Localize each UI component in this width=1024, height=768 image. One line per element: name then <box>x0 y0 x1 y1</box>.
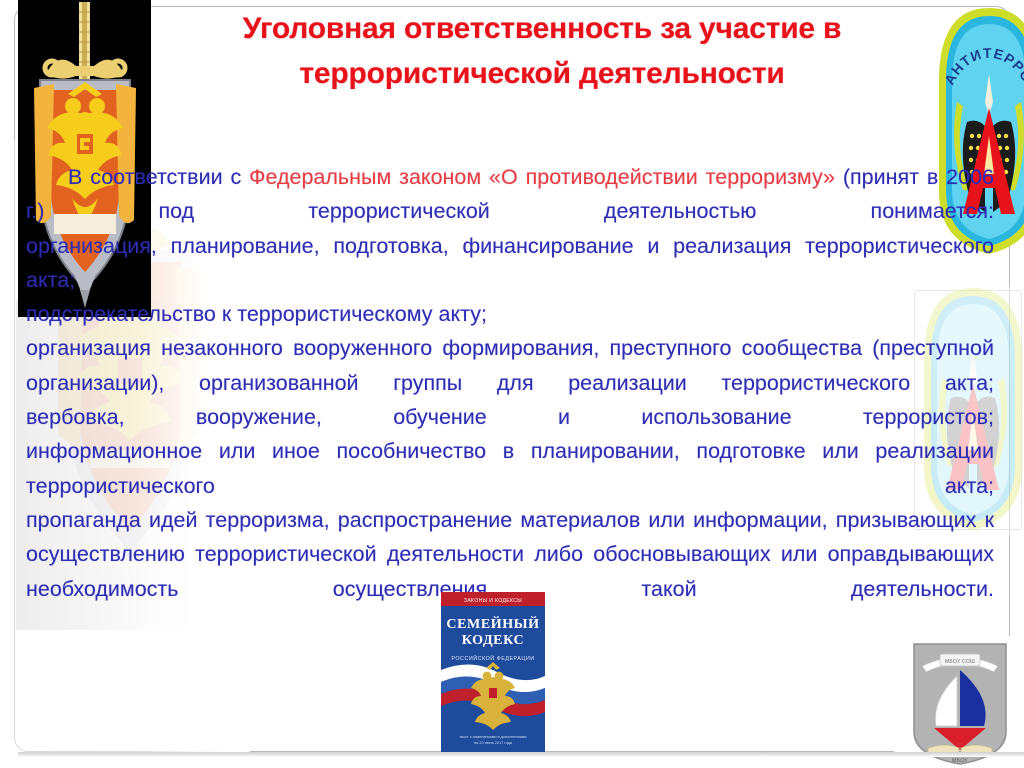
body-list-item: организация незаконного вооруженного фор… <box>26 331 994 400</box>
intro-lead-text: В соответствии с <box>68 165 249 189</box>
slide-body-text: В соответствии с Федеральным законом «О … <box>26 160 994 606</box>
svg-text:КОДЕКС: КОДЕКС <box>462 633 524 648</box>
body-list-item: организация, планирование, подготовка, ф… <box>26 229 994 298</box>
slide-bottom-shadow <box>18 752 1024 757</box>
svg-text:ЗАКОНЫ И КОДЕКСЫ: ЗАКОНЫ И КОДЕКСЫ <box>464 598 522 604</box>
svg-text:СЕМЕЙНЫЙ: СЕМЕЙНЫЙ <box>446 615 539 632</box>
svg-text:на 20 июня 2017 года: на 20 июня 2017 года <box>474 741 513 745</box>
family-code-book-cover: ЗАКОНЫ И КОДЕКСЫ СЕМЕЙНЫЙ КОДЕКС РОССИЙС… <box>441 592 545 752</box>
svg-text:текст с изменениями и дополнен: текст с изменениями и дополнениями <box>459 735 526 739</box>
body-list-item: подстрекательство к террористическому ак… <box>26 297 994 331</box>
body-list-item: вербовка, вооружение, обучение и использ… <box>26 400 994 434</box>
presentation-slide: АНТИТЕРРОР <box>0 0 1024 768</box>
school-emblem-icon: МБОУ СОШ МБОУ <box>900 640 1020 768</box>
body-list-item: пропаганда идей терроризма, распростране… <box>26 503 994 606</box>
federal-law-name: Федеральным законом «О противодействии т… <box>249 165 835 189</box>
page-title: Уголовная ответственность за участие в т… <box>192 6 892 96</box>
svg-text:МБОУ СОШ: МБОУ СОШ <box>945 659 975 665</box>
body-paragraph-intro: В соответствии с Федеральным законом «О … <box>26 160 994 229</box>
svg-text:РОССИЙСКОЙ ФЕДЕРАЦИИ: РОССИЙСКОЙ ФЕДЕРАЦИИ <box>451 654 534 662</box>
body-list-item: информационное или иное пособничество в … <box>26 434 994 503</box>
svg-text:МБОУ: МБОУ <box>952 758 968 764</box>
